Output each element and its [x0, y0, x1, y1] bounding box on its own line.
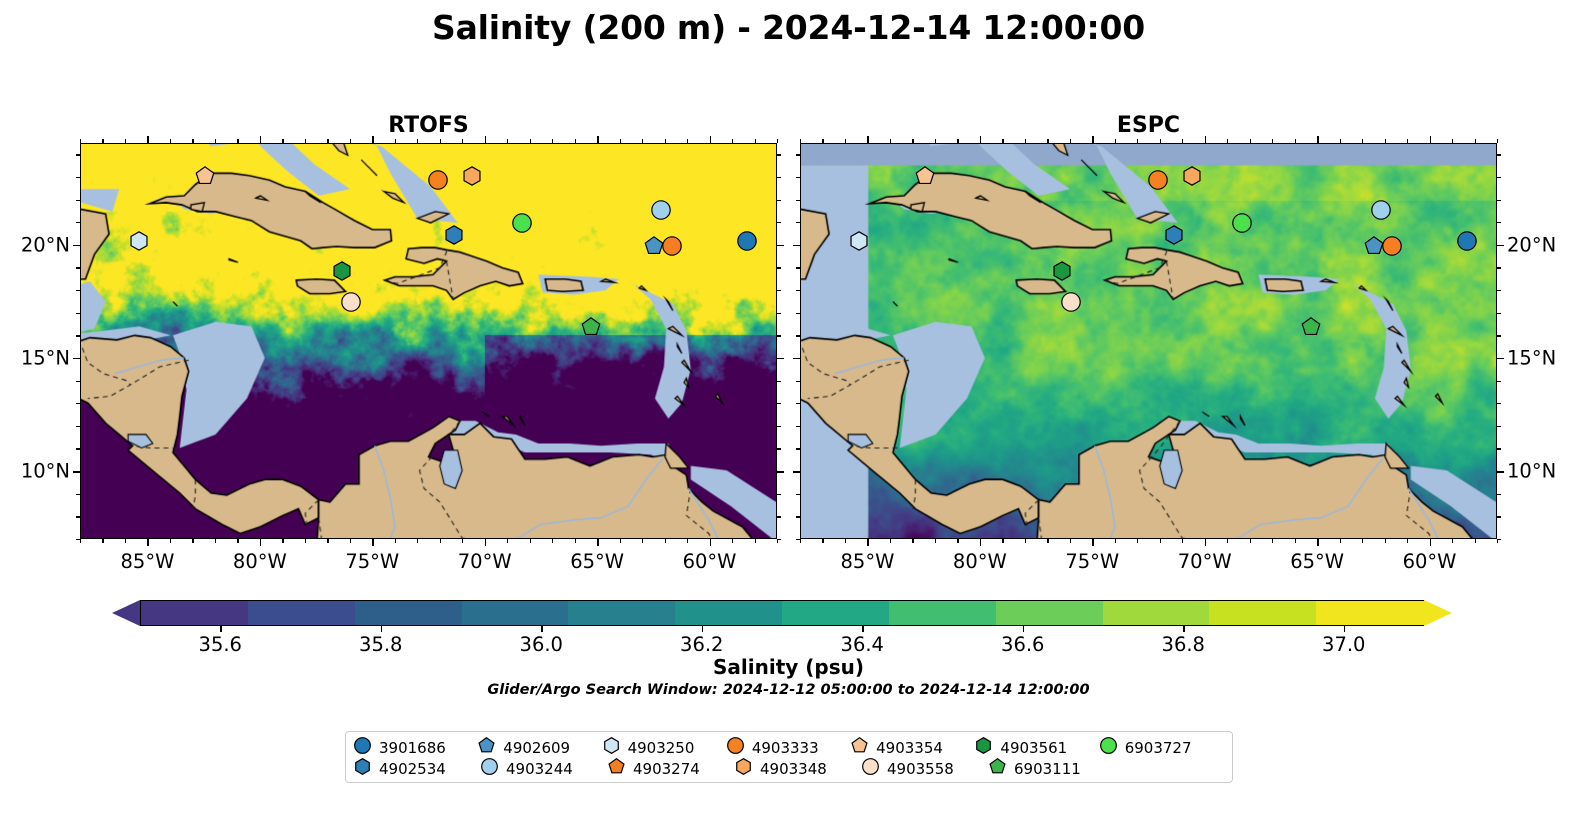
lat-tick-left	[76, 154, 80, 155]
lat-tick-right	[1497, 516, 1501, 517]
lat-tick-left	[796, 448, 800, 449]
lat-tick-right	[777, 448, 781, 449]
lon-tick	[350, 539, 351, 543]
colorbar-segment	[1209, 601, 1317, 625]
lat-tick-right	[1497, 381, 1501, 382]
lon-tick-top	[935, 139, 936, 143]
legend-item[interactable]: 4903333	[727, 737, 851, 758]
lat-tick-right	[777, 539, 781, 540]
map-marker-4903558[interactable]	[341, 292, 361, 312]
lon-tick-top	[777, 139, 778, 143]
legend-item-label: 4903333	[752, 739, 819, 757]
lat-tick-right	[777, 200, 781, 201]
lon-tick	[710, 539, 711, 546]
lon-tick	[1227, 539, 1228, 543]
lon-tick-top	[800, 139, 801, 143]
lon-tick	[1272, 539, 1273, 543]
lat-tick-left	[76, 335, 80, 336]
hexagon-marker-icon	[735, 758, 757, 779]
lon-tick-top	[1362, 139, 1363, 143]
legend-item[interactable]: 4903274	[608, 758, 735, 779]
salinity-field-rtofs	[81, 144, 776, 538]
map-marker-4903348[interactable]	[462, 166, 482, 186]
colorbar-segment	[568, 601, 676, 625]
lat-axis-label-right: 10°N	[1507, 460, 1556, 483]
lon-tick-top	[1250, 139, 1251, 143]
lat-tick-right	[1497, 154, 1501, 155]
lon-tick-top	[1182, 139, 1183, 143]
map-marker-4903274[interactable]	[662, 236, 682, 256]
lat-tick-left	[796, 403, 800, 404]
colorbar-tick-label: 37.0	[1322, 633, 1365, 656]
lon-tick	[1295, 539, 1296, 543]
legend-item-label: 4903250	[628, 739, 695, 757]
lat-tick-left	[796, 222, 800, 223]
lat-tick-right	[1497, 471, 1504, 472]
lon-tick	[642, 539, 643, 543]
lon-tick	[552, 539, 553, 543]
lon-tick-top	[170, 139, 171, 143]
legend-item[interactable]: 4902609	[478, 737, 602, 758]
lat-tick-right	[777, 494, 781, 495]
lat-tick-left	[796, 154, 800, 155]
lon-tick	[890, 539, 891, 543]
figure-canvas: Salinity (200 m) - 2024-12-14 12:00:00 R…	[0, 0, 1577, 827]
lon-tick-top	[462, 139, 463, 143]
lon-tick	[687, 539, 688, 543]
map-panel-espc[interactable]	[800, 143, 1497, 539]
legend-item[interactable]: 4903250	[603, 737, 727, 758]
lat-tick-left	[73, 245, 80, 246]
pentagon-marker-icon	[989, 758, 1011, 779]
lon-tick	[800, 539, 801, 543]
lat-tick-right	[777, 381, 781, 382]
lat-tick-left	[76, 177, 80, 178]
lon-tick-top	[530, 139, 531, 143]
map-marker-4903244[interactable]	[1371, 200, 1391, 220]
lat-tick-left	[76, 200, 80, 201]
legend-item-label: 4903274	[633, 760, 700, 778]
lon-tick-top	[597, 136, 598, 143]
lon-tick-top	[305, 139, 306, 143]
legend-item-label: 3901686	[379, 739, 446, 757]
map-marker-6903111[interactable]	[1301, 317, 1321, 337]
lat-tick-left	[76, 403, 80, 404]
lat-tick-left	[73, 471, 80, 472]
lat-tick-left	[796, 267, 800, 268]
lat-tick-right	[777, 335, 781, 336]
map-marker-3901686[interactable]	[737, 231, 757, 251]
legend-item[interactable]: 4903348	[735, 758, 862, 779]
lat-tick-left	[796, 494, 800, 495]
panel-title-rtofs: RTOFS	[80, 113, 777, 138]
lon-tick	[1115, 539, 1116, 543]
colorbar-segment	[996, 601, 1104, 625]
lon-tick	[1070, 539, 1071, 543]
colorbar-tick-label: 36.0	[520, 633, 563, 656]
lat-tick-left	[796, 539, 800, 540]
legend-item[interactable]: 4903244	[481, 758, 608, 779]
lon-tick-top	[957, 139, 958, 143]
lon-axis-label: 85°W	[121, 550, 175, 573]
lat-tick-right	[1497, 222, 1501, 223]
legend-item[interactable]: 4903354	[851, 737, 975, 758]
lon-tick	[507, 539, 508, 543]
lon-axis-label: 60°W	[683, 550, 737, 573]
map-marker-6903727[interactable]	[512, 213, 532, 233]
lon-tick-top	[890, 139, 891, 143]
lon-tick-top	[1092, 136, 1093, 143]
map-marker-6903111[interactable]	[581, 317, 601, 337]
lon-tick-top	[215, 139, 216, 143]
colorbar-label: Salinity (psu)	[0, 655, 1577, 679]
lon-tick-top	[1047, 139, 1048, 143]
colorbar-segment	[889, 601, 997, 625]
legend-item[interactable]: 4902534	[354, 758, 481, 779]
lon-tick	[755, 539, 756, 543]
lon-tick-top	[642, 139, 643, 143]
lon-axis-label: 65°W	[1290, 550, 1344, 573]
legend-item-label: 6903111	[1014, 760, 1081, 778]
lon-tick	[215, 539, 216, 543]
map-marker-4903333[interactable]	[428, 170, 448, 190]
lon-axis-label: 65°W	[570, 550, 624, 573]
colorbar-segment	[1316, 601, 1424, 625]
lat-tick-left	[796, 177, 800, 178]
colorbar-tick-label: 35.8	[359, 633, 402, 656]
lon-tick	[327, 539, 328, 543]
colorbar: 35.635.836.036.236.436.636.837.0	[112, 600, 1452, 626]
page-title: Salinity (200 m) - 2024-12-14 12:00:00	[0, 8, 1577, 47]
lon-tick	[1002, 539, 1003, 543]
lon-tick	[845, 539, 846, 543]
lon-tick	[1137, 539, 1138, 543]
lon-tick	[1362, 539, 1363, 543]
lon-tick-top	[80, 139, 81, 143]
lon-tick-top	[395, 139, 396, 143]
lon-tick	[170, 539, 171, 543]
lon-axis-label: 70°W	[458, 550, 512, 573]
lon-tick-top	[665, 139, 666, 143]
legend-item-label: 4903558	[887, 760, 954, 778]
legend-item[interactable]: 4903558	[862, 758, 989, 779]
lon-axis-label: 70°W	[1178, 550, 1232, 573]
lon-tick-top	[372, 136, 373, 143]
lat-tick-left	[73, 358, 80, 359]
lon-tick	[912, 539, 913, 543]
lat-tick-right	[1497, 335, 1501, 336]
lon-tick-top	[755, 139, 756, 143]
lat-tick-left	[76, 313, 80, 314]
lon-tick	[1475, 539, 1476, 543]
lon-tick-top	[687, 139, 688, 143]
lon-tick	[957, 539, 958, 543]
lat-tick-left	[76, 516, 80, 517]
lon-tick	[440, 539, 441, 543]
lon-tick	[935, 539, 936, 543]
lon-tick-top	[867, 136, 868, 143]
lon-tick-top	[822, 139, 823, 143]
map-marker-4903274[interactable]	[1382, 236, 1402, 256]
lon-tick-top	[1385, 139, 1386, 143]
colorbar-tick	[1183, 626, 1184, 632]
lon-tick-top	[552, 139, 553, 143]
map-marker-4903354[interactable]	[195, 166, 215, 186]
lon-tick	[192, 539, 193, 543]
lon-tick-top	[1272, 139, 1273, 143]
lon-axis-label: 85°W	[841, 550, 895, 573]
lon-tick-top	[1340, 139, 1341, 143]
colorbar-tick-label: 36.6	[1001, 633, 1044, 656]
lon-tick-top	[1160, 139, 1161, 143]
lon-tick	[1160, 539, 1161, 543]
map-marker-4902534[interactable]	[1164, 225, 1184, 245]
lon-tick	[485, 539, 486, 546]
lon-tick	[395, 539, 396, 543]
colorbar-extend-low	[112, 600, 140, 626]
lon-tick-top	[1407, 139, 1408, 143]
lat-tick-right	[1497, 403, 1501, 404]
lat-tick-right	[1497, 177, 1501, 178]
colorbar-tick-label: 36.4	[841, 633, 884, 656]
lat-tick-left	[76, 539, 80, 540]
lon-tick-top	[732, 139, 733, 143]
circle-marker-icon	[1100, 737, 1122, 758]
lon-tick	[597, 539, 598, 546]
legend-item-label: 4903354	[876, 739, 943, 757]
colorbar-segment	[462, 601, 570, 625]
circle-marker-icon	[727, 737, 749, 758]
legend-item[interactable]: 3901686	[354, 737, 478, 758]
map-marker-4903250[interactable]	[849, 231, 869, 251]
legend-item-label: 4902609	[503, 739, 570, 757]
lat-tick-left	[796, 381, 800, 382]
colorbar-segment	[141, 601, 249, 625]
lat-tick-right	[777, 516, 781, 517]
lon-tick-top	[1070, 139, 1071, 143]
legend-item-label: 4903561	[1000, 739, 1067, 757]
map-marker-6903727[interactable]	[1232, 213, 1252, 233]
lon-tick	[1092, 539, 1093, 546]
colorbar-tick	[862, 626, 863, 632]
map-marker-4903250[interactable]	[129, 231, 149, 251]
lon-tick-top	[1025, 139, 1026, 143]
colorbar-tick-label: 36.8	[1162, 633, 1205, 656]
hexagon-marker-icon	[603, 737, 625, 758]
lat-tick-right	[777, 290, 781, 291]
colorbar-tick	[220, 626, 221, 632]
lon-tick-top	[1115, 139, 1116, 143]
pentagon-marker-icon	[478, 737, 500, 758]
lon-axis-label: 60°W	[1403, 550, 1457, 573]
map-marker-4902534[interactable]	[444, 225, 464, 245]
lat-tick-right	[1497, 494, 1501, 495]
lon-tick	[867, 539, 868, 546]
lon-tick-top	[485, 136, 486, 143]
lat-tick-left	[796, 313, 800, 314]
lon-tick-top	[1137, 139, 1138, 143]
lat-tick-right	[777, 426, 781, 427]
legend-item[interactable]: 6903727	[1100, 737, 1224, 758]
panel-title-espc: ESPC	[800, 113, 1497, 138]
lat-tick-right	[777, 222, 781, 223]
circle-marker-icon	[862, 758, 884, 779]
lon-tick-top	[125, 139, 126, 143]
lon-tick-top	[912, 139, 913, 143]
lon-tick-top	[1205, 136, 1206, 143]
lat-tick-left	[76, 448, 80, 449]
map-marker-4903561[interactable]	[332, 261, 352, 281]
lon-tick	[1182, 539, 1183, 543]
lon-tick-top	[417, 139, 418, 143]
pentagon-marker-icon	[608, 758, 630, 779]
colorbar-tick	[1344, 626, 1345, 632]
lat-tick-right	[777, 403, 781, 404]
colorbar-segment	[675, 601, 783, 625]
lat-tick-right	[1497, 448, 1501, 449]
colorbar-tick	[541, 626, 542, 632]
lon-tick	[1340, 539, 1341, 543]
lon-tick	[620, 539, 621, 543]
colorbar-segment	[248, 601, 356, 625]
colorbar-gradient	[140, 600, 1424, 626]
lat-tick-left	[76, 222, 80, 223]
legend-row-2: 4902534490324449032744903348490355869031…	[354, 758, 1224, 779]
map-marker-4903348[interactable]	[1182, 166, 1202, 186]
lon-tick-top	[1452, 139, 1453, 143]
map-marker-4903558[interactable]	[1061, 292, 1081, 312]
lon-axis-label: 80°W	[953, 550, 1007, 573]
lon-tick	[980, 539, 981, 546]
lon-tick	[1430, 539, 1431, 546]
lon-tick	[372, 539, 373, 546]
lon-tick	[417, 539, 418, 543]
lon-tick-top	[350, 139, 351, 143]
lon-tick-top	[1295, 139, 1296, 143]
lon-tick	[282, 539, 283, 543]
lon-axis-label: 75°W	[345, 550, 399, 573]
lat-axis-label-left: 15°N	[4, 346, 70, 369]
map-panel-rtofs[interactable]	[80, 143, 777, 539]
lon-tick	[1385, 539, 1386, 543]
lat-tick-right	[1497, 426, 1501, 427]
lon-tick	[237, 539, 238, 543]
lat-axis-label-left: 20°N	[4, 233, 70, 256]
colorbar-extend-high	[1424, 600, 1452, 626]
lon-tick	[1205, 539, 1206, 546]
colorbar-segment	[1103, 601, 1211, 625]
lat-tick-left	[793, 245, 800, 246]
lon-tick	[1317, 539, 1318, 546]
lat-tick-right	[1497, 358, 1504, 359]
hexagon-marker-icon	[354, 758, 376, 779]
lon-tick-top	[980, 136, 981, 143]
lat-tick-left	[793, 358, 800, 359]
lat-axis-label-right: 15°N	[1507, 346, 1556, 369]
lon-tick	[147, 539, 148, 546]
lat-tick-right	[777, 245, 784, 246]
lat-tick-right	[777, 154, 781, 155]
legend-item-label: 4903244	[506, 760, 573, 778]
lon-tick-top	[102, 139, 103, 143]
legend-item[interactable]: 6903111	[989, 758, 1116, 779]
lat-tick-left	[796, 335, 800, 336]
colorbar-tick	[381, 626, 382, 632]
legend-row-1: 3901686490260949032504903333490335449035…	[354, 737, 1224, 758]
colorbar-tick-label: 36.2	[680, 633, 723, 656]
lat-tick-right	[777, 267, 781, 268]
lon-axis-label: 80°W	[233, 550, 287, 573]
lon-tick	[102, 539, 103, 543]
map-marker-4903561[interactable]	[1052, 261, 1072, 281]
lat-tick-right	[777, 358, 784, 359]
lon-tick	[80, 539, 81, 543]
lat-tick-right	[777, 313, 781, 314]
lat-axis-label-left: 10°N	[4, 460, 70, 483]
lat-tick-right	[777, 177, 781, 178]
colorbar-segment	[355, 601, 463, 625]
lat-tick-right	[1497, 267, 1501, 268]
lon-tick	[530, 539, 531, 543]
lon-tick-top	[282, 139, 283, 143]
map-marker-4903354[interactable]	[915, 166, 935, 186]
lon-tick-top	[710, 136, 711, 143]
salinity-field-espc	[801, 144, 1496, 538]
lat-tick-right	[1497, 245, 1504, 246]
circle-marker-icon	[481, 758, 503, 779]
lon-tick	[125, 539, 126, 543]
search-window-caption: Glider/Argo Search Window: 2024-12-12 05…	[0, 682, 1577, 698]
lat-tick-left	[76, 426, 80, 427]
lat-tick-left	[793, 471, 800, 472]
legend-item-label: 6903727	[1125, 739, 1192, 757]
lon-tick-top	[237, 139, 238, 143]
lon-tick-top	[440, 139, 441, 143]
lon-tick-top	[1430, 136, 1431, 143]
lon-tick-top	[845, 139, 846, 143]
lon-tick-top	[327, 139, 328, 143]
map-marker-4903333[interactable]	[1148, 170, 1168, 190]
lon-axis-label: 75°W	[1065, 550, 1119, 573]
lon-tick-top	[192, 139, 193, 143]
lat-tick-right	[1497, 290, 1501, 291]
lat-tick-right	[1497, 200, 1501, 201]
lat-tick-left	[796, 516, 800, 517]
legend-item-label: 4902534	[379, 760, 446, 778]
lon-tick	[462, 539, 463, 543]
lon-tick-top	[507, 139, 508, 143]
lon-tick	[1025, 539, 1026, 543]
lon-tick-top	[1317, 136, 1318, 143]
lat-tick-right	[1497, 313, 1501, 314]
map-marker-3901686[interactable]	[1457, 231, 1477, 251]
lat-tick-left	[796, 426, 800, 427]
lon-tick-top	[575, 139, 576, 143]
lon-tick	[822, 539, 823, 543]
lon-tick	[260, 539, 261, 546]
lat-tick-left	[76, 494, 80, 495]
legend-item[interactable]: 4903561	[975, 737, 1099, 758]
marker-legend: 3901686490260949032504903333490335449035…	[345, 731, 1233, 783]
hexagon-marker-icon	[975, 737, 997, 758]
lat-tick-right	[1497, 539, 1501, 540]
lon-tick	[1250, 539, 1251, 543]
map-marker-4903244[interactable]	[651, 200, 671, 220]
lon-tick-top	[147, 136, 148, 143]
lat-tick-right	[777, 471, 784, 472]
lat-tick-left	[796, 290, 800, 291]
colorbar-tick	[1023, 626, 1024, 632]
